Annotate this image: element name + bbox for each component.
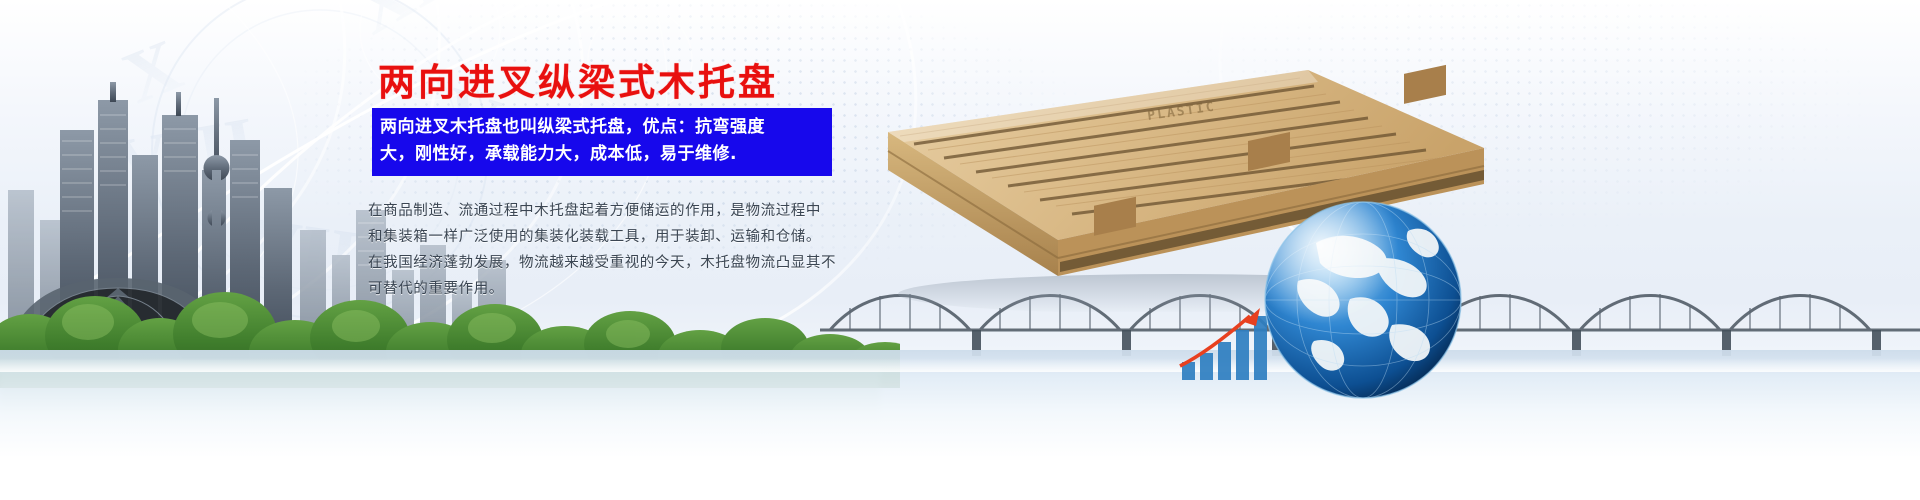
highlight-callout-box: 两向进叉木托盘也叫纵梁式托盘，优点：抗弯强度 大，刚性好，承载能力大，成本低，易… xyxy=(372,108,832,176)
page-title: 两向进叉纵梁式木托盘 xyxy=(378,52,778,106)
body-description: 在商品制造、流通过程中木托盘起着方便储运的作用，是物流过程中 和集装箱一样广泛使… xyxy=(368,198,848,302)
chart-bars xyxy=(1182,316,1267,380)
highlight-line-1: 两向进叉木托盘也叫纵梁式托盘，优点：抗弯强度 xyxy=(380,114,824,141)
earth-globe-icon xyxy=(1258,195,1468,405)
water-reflection-band xyxy=(0,350,1920,500)
promotional-banner: X VIII VII XI V xyxy=(0,0,1920,500)
body-line-1: 在商品制造、流通过程中木托盘起着方便储运的作用，是物流过程中 xyxy=(368,198,848,224)
body-line-4: 可替代的重要作用。 xyxy=(368,276,848,302)
svg-text:XI: XI xyxy=(340,0,452,51)
highlight-line-2: 大，刚性好，承载能力大，成本低，易于维修. xyxy=(380,141,824,168)
body-line-3: 在我国经济蓬勃发展，物流越来越受重视的今天，木托盘物流凸显其不 xyxy=(368,250,848,276)
waterline-highlight xyxy=(0,358,1920,372)
body-line-2: 和集装箱一样广泛使用的集装化装载工具，用于装卸、运输和仓储。 xyxy=(368,224,848,250)
